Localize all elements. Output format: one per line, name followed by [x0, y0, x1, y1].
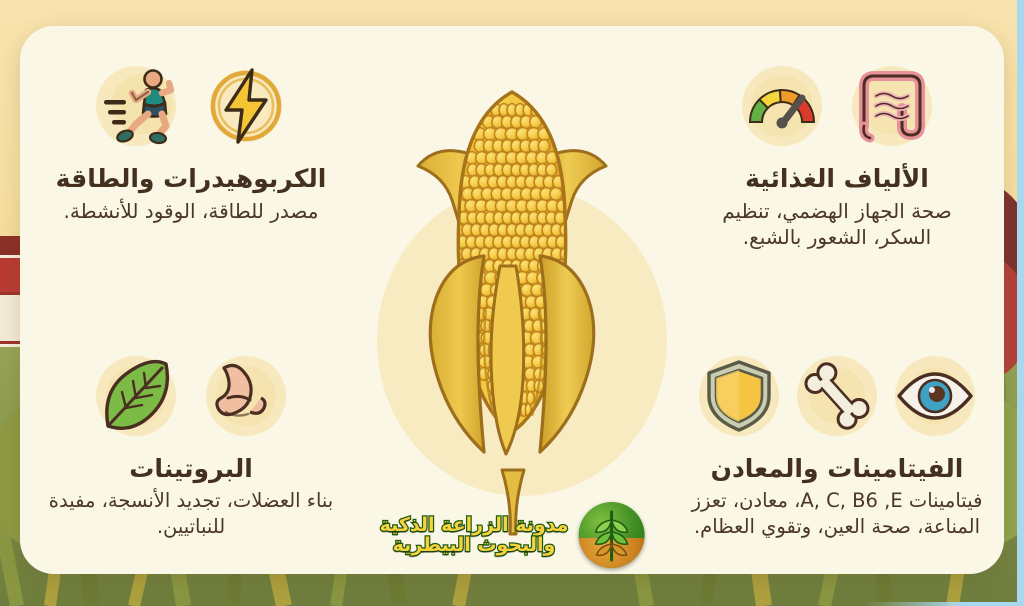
- capture-edge-right: [1017, 0, 1024, 606]
- infographic-canvas: الكربوهيدرات والطاقة مصدر للطاقة، الوقود…: [0, 0, 1024, 606]
- vitamins-description: فيتامينات A, C, B6 ,E، معادن، تعزز المنا…: [672, 488, 1002, 540]
- carbohydrates-description: مصدر للطاقة، الوقود للأنشطة.: [26, 198, 356, 225]
- proteins-icon-row: [26, 344, 356, 448]
- running-person-icon: [90, 60, 182, 152]
- fiber-icon-row: [672, 54, 1002, 158]
- gauge-meter-icon: [736, 60, 828, 152]
- proteins-description: بناء العضلات، تجديد الأنسجة، مفيدة للنبا…: [26, 488, 356, 540]
- section-vitamins-minerals: الفيتامينات والمعادن فيتامينات A, C, B6 …: [672, 344, 1002, 540]
- content-card: الكربوهيدرات والطاقة مصدر للطاقة، الوقود…: [20, 26, 1004, 574]
- vitamins-icon-row: [672, 344, 1002, 448]
- watermark-logo: مدونة الزراعة الذكية والبحوث البيطرية: [380, 502, 645, 568]
- shield-icon: [693, 350, 785, 442]
- carbohydrates-title: الكربوهيدرات والطاقة: [26, 164, 356, 194]
- vitamins-title: الفيتامينات والمعادن: [672, 454, 1002, 484]
- leaf-icon: [90, 350, 182, 442]
- watermark-line-1: مدونة الزراعة الذكية: [380, 515, 569, 535]
- section-proteins: البروتينات بناء العضلات، تجديد الأنسجة، …: [26, 344, 356, 540]
- watermark-line-2: والبحوث البيطرية: [380, 535, 569, 555]
- proteins-title: البروتينات: [26, 454, 356, 484]
- intestines-icon: [846, 60, 938, 152]
- section-carbohydrates: الكربوهيدرات والطاقة مصدر للطاقة، الوقود…: [26, 54, 356, 224]
- eye-icon: [889, 350, 981, 442]
- capture-edge-bottom: [0, 602, 1024, 606]
- section-dietary-fiber: الألياف الغذائية صحة الجهاز الهضمي، تنظي…: [672, 54, 1002, 251]
- flexed-bicep-icon: [200, 350, 292, 442]
- lightning-bolt-icon: [200, 60, 292, 152]
- fiber-description: صحة الجهاز الهضمي، تنظيم السكر، الشعور ب…: [672, 198, 1002, 252]
- carbohydrates-icon-row: [26, 54, 356, 158]
- bone-icon: [791, 350, 883, 442]
- fiber-title: الألياف الغذائية: [672, 164, 1002, 194]
- watermark-text: مدونة الزراعة الذكية والبحوث البيطرية: [380, 515, 569, 555]
- corn-cob-illustration: [362, 70, 662, 550]
- wheat-leaf-logo-icon: [578, 502, 644, 568]
